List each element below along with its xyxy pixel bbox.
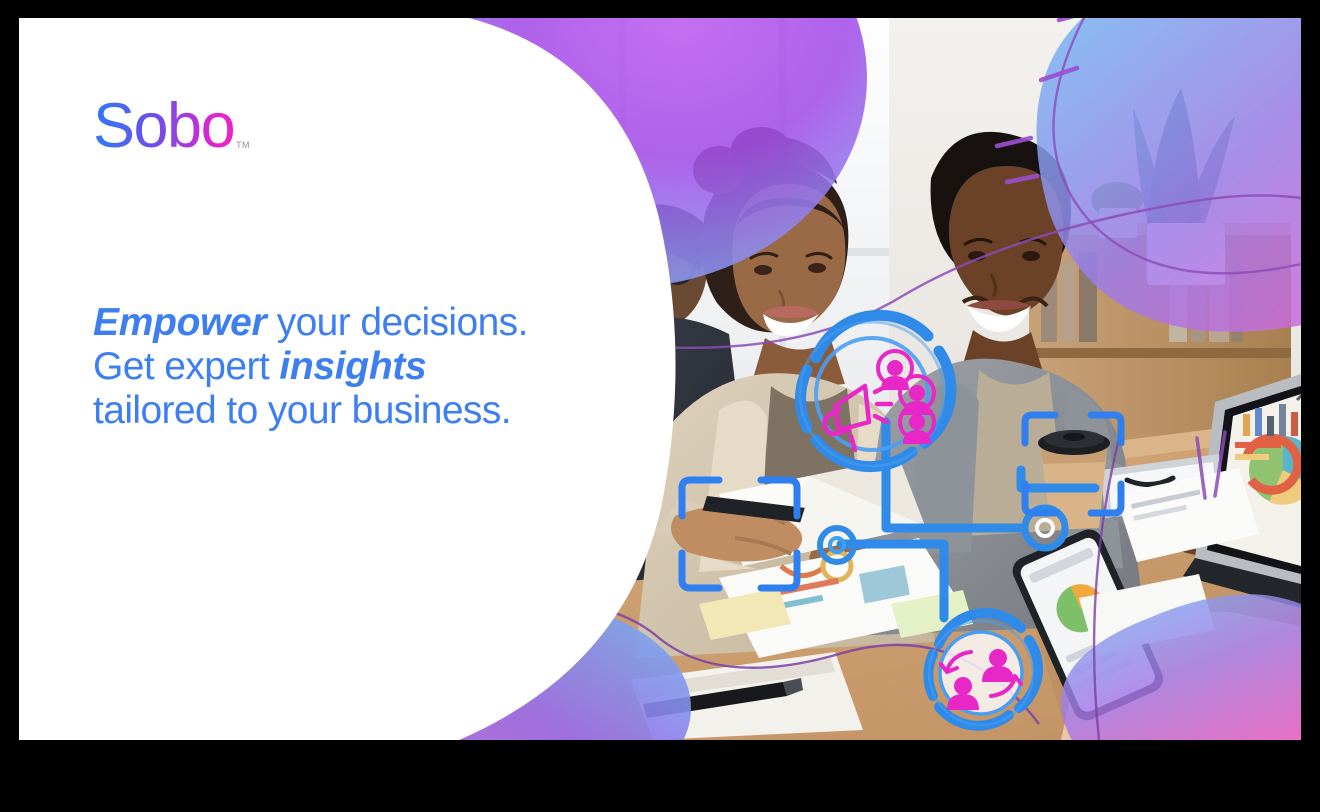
user-icon — [878, 351, 912, 390]
headline-line-3: tailored to your business. — [93, 391, 693, 430]
megaphone-icon — [825, 386, 891, 450]
headline-line-1-rest: your decisions. — [266, 301, 527, 344]
headline-line-2-pre: Get expert — [93, 345, 279, 388]
headline-line-2: Get expert insights — [93, 347, 693, 386]
user-exchange-node — [928, 613, 1038, 726]
slide-content-card: Sobo TM Empower your decisions. Get expe… — [19, 18, 1301, 740]
brand-wordmark: Sobo — [93, 95, 234, 158]
focus-bracket-notebook — [682, 480, 797, 588]
headline-emphasis-insights: insights — [279, 345, 426, 388]
headline-line-1: Empower your decisions. — [93, 303, 693, 342]
megaphone-audience-node — [800, 315, 951, 466]
trademark-symbol: TM — [236, 140, 250, 150]
headline-emphasis-empower: Empower — [93, 301, 266, 344]
headline: Empower your decisions. Get expert insig… — [93, 303, 693, 435]
focus-bracket-coffee-cup — [1025, 415, 1121, 513]
brand-logo[interactable]: Sobo TM — [93, 95, 250, 158]
slide-canvas: Sobo TM Empower your decisions. Get expe… — [0, 0, 1320, 812]
